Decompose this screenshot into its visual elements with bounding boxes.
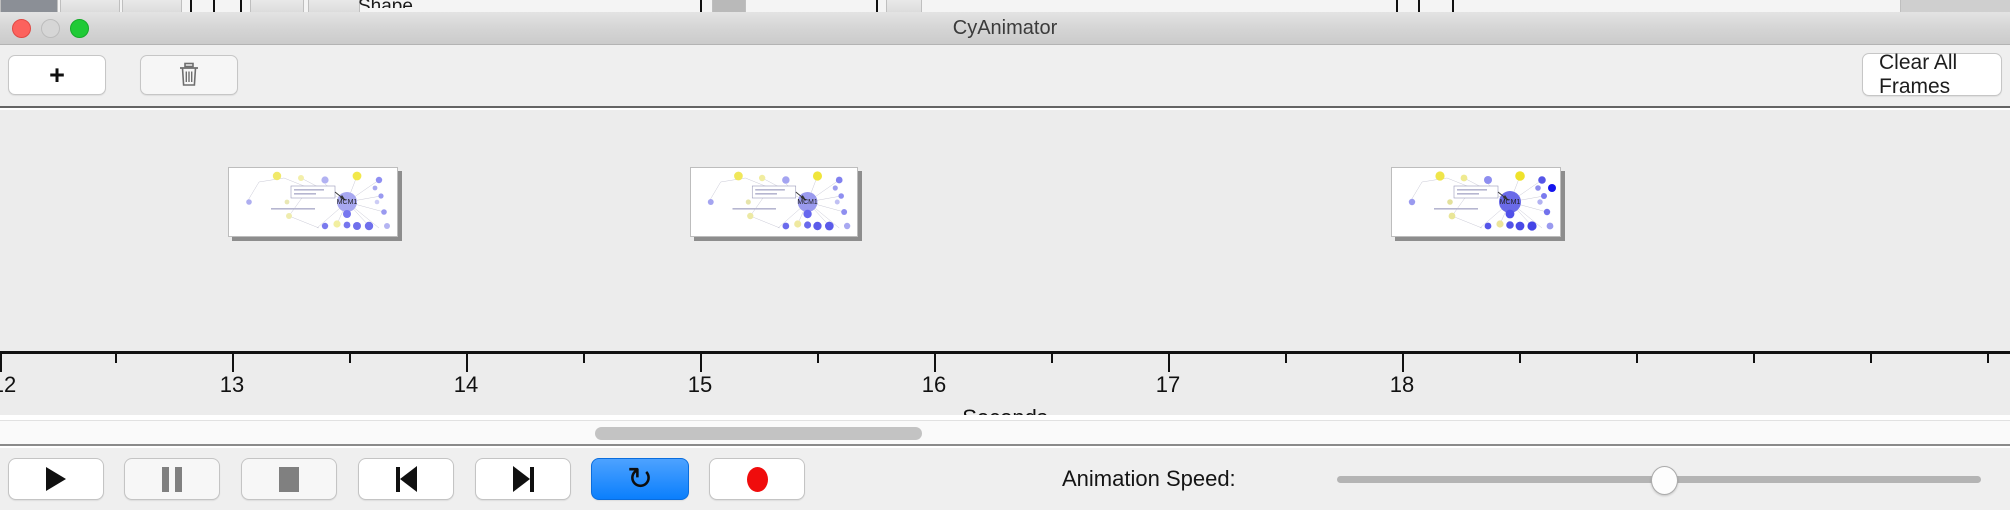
play-icon — [46, 467, 66, 491]
axis-tick-minor — [1870, 354, 1872, 363]
axis-tick-minor — [349, 354, 351, 363]
network-preview: MCM1 — [691, 168, 857, 236]
background-tick — [1418, 0, 1420, 12]
cyanimator-window: Shape CyAnimator + — [0, 0, 2010, 510]
background-chip — [308, 0, 360, 12]
last-frame-button[interactable] — [475, 458, 571, 500]
first-frame-button[interactable] — [358, 458, 454, 500]
loop-icon: ↻ — [627, 464, 653, 495]
plus-icon: + — [49, 62, 65, 89]
background-tick — [213, 0, 215, 12]
axis-tick-label: 14 — [454, 372, 478, 398]
background-tick — [240, 0, 242, 12]
clear-all-frames-button[interactable]: Clear All Frames — [1862, 53, 2002, 96]
axis-tick-major — [232, 354, 234, 372]
axis-tick-minor — [817, 354, 819, 363]
window-title: CyAnimator — [0, 12, 2010, 45]
background-chip — [60, 0, 120, 12]
axis-tick-label: 12 — [0, 372, 16, 398]
clear-all-frames-label: Clear All Frames — [1879, 51, 1985, 99]
add-frame-button[interactable]: + — [8, 55, 106, 95]
background-tick — [700, 0, 702, 12]
scrollbar-thumb[interactable] — [595, 427, 922, 440]
axis-tick-minor — [1753, 354, 1755, 363]
background-tick — [190, 0, 192, 12]
axis-tick-major — [1168, 354, 1170, 372]
axis-tick-minor — [1285, 354, 1287, 363]
axis-tick-major — [0, 354, 2, 372]
stop-icon — [279, 467, 299, 492]
timeline-axis — [0, 351, 2010, 354]
frame-thumbnail[interactable]: MCM1 — [690, 167, 858, 237]
skip-end-icon — [513, 466, 534, 492]
axis-tick-minor — [1519, 354, 1521, 363]
animation-speed-label: Animation Speed: — [1062, 458, 1236, 500]
pause-button[interactable] — [124, 458, 220, 500]
hub-node-label: MCM1 — [337, 199, 358, 206]
titlebar: CyAnimator — [0, 12, 2010, 45]
axis-tick-minor — [1636, 354, 1638, 363]
timeline-scrollbar[interactable] — [0, 420, 2010, 446]
record-icon — [747, 467, 768, 492]
delete-frame-button[interactable] — [140, 55, 238, 95]
background-chip — [0, 0, 58, 12]
background-chip — [250, 0, 304, 12]
network-preview: MCM1 — [229, 168, 397, 236]
loop-button[interactable]: ↻ — [591, 458, 689, 500]
background-chip — [886, 0, 922, 12]
axis-tick-minor — [115, 354, 117, 363]
axis-tick-label: 15 — [688, 372, 712, 398]
skip-start-icon — [396, 466, 417, 492]
axis-title: Seconds — [0, 405, 2010, 415]
hub-node-label: MCM1 — [1500, 199, 1521, 206]
slider-thumb[interactable] — [1651, 466, 1678, 495]
axis-tick-label: 13 — [220, 372, 244, 398]
pause-icon — [162, 467, 182, 492]
background-tick — [876, 0, 878, 12]
background-chip — [1900, 0, 2010, 12]
axis-tick-major — [1402, 354, 1404, 372]
background-window-label: Shape — [358, 0, 438, 8]
record-button[interactable] — [709, 458, 805, 500]
axis-tick-major — [934, 354, 936, 372]
timeline-panel[interactable]: MCM1 — [0, 110, 2010, 415]
axis-tick-major — [466, 354, 468, 372]
trash-icon — [177, 62, 201, 88]
axis-tick-label: 18 — [1390, 372, 1414, 398]
network-preview: MCM1 — [1392, 168, 1560, 236]
toolbar: + Clear All Frames — [0, 45, 2010, 108]
background-chip — [122, 0, 182, 12]
stop-button[interactable] — [241, 458, 337, 500]
background-chip — [712, 0, 746, 12]
axis-tick-minor — [1987, 354, 1989, 363]
axis-tick-minor — [583, 354, 585, 363]
axis-tick-label: 17 — [1156, 372, 1180, 398]
hub-node-label: MCM1 — [797, 199, 817, 206]
transport-bar: ↻ Animation Speed: — [0, 448, 2010, 510]
axis-tick-minor — [1051, 354, 1053, 363]
frame-thumbnail[interactable]: MCM1 — [1391, 167, 1561, 237]
play-button[interactable] — [8, 458, 104, 500]
animation-speed-slider[interactable] — [1337, 476, 1981, 483]
frame-thumbnail[interactable]: MCM1 — [228, 167, 398, 237]
background-tick — [1396, 0, 1398, 12]
background-tick — [1452, 0, 1454, 12]
axis-tick-major — [700, 354, 702, 372]
axis-tick-label: 16 — [922, 372, 946, 398]
